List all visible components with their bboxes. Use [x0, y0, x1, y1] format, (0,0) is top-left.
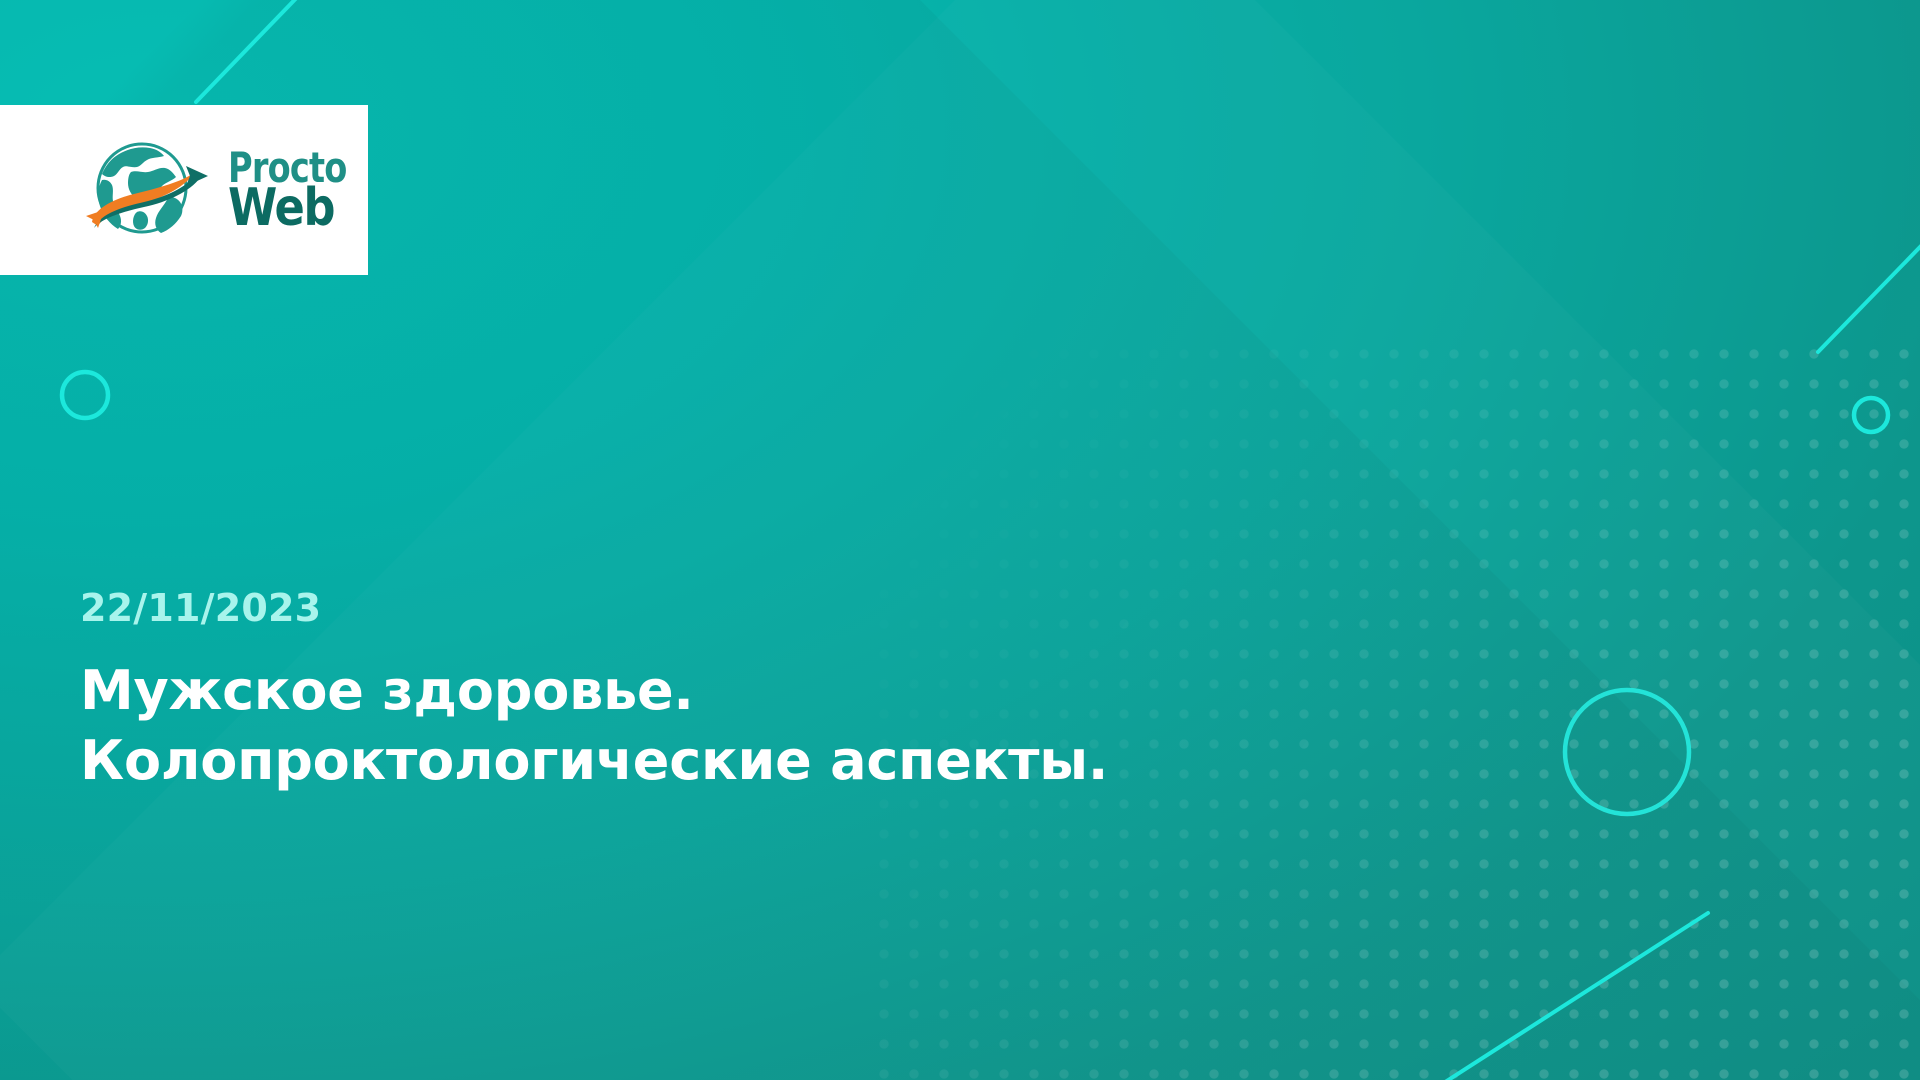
slide-title: Мужское здоровье. Колопроктологические а… — [80, 656, 1330, 796]
presentation-slide: Procto Web 22/11/2023 Мужское здоровье. … — [0, 0, 1920, 1080]
logo-word-bottom: Web — [228, 187, 355, 231]
slide-date: 22/11/2023 — [80, 588, 1330, 630]
logo-wordmark: Procto Web — [228, 150, 376, 231]
logo-plate[interactable]: Procto Web — [0, 105, 368, 275]
globe-swoosh-logo-icon — [82, 136, 222, 244]
slide-text-block: 22/11/2023 Мужское здоровье. Колопроктол… — [80, 588, 1330, 796]
slide-title-line-2: Колопроктологические аспекты. — [80, 726, 1330, 796]
slide-title-line-1: Мужское здоровье. — [80, 656, 1330, 726]
